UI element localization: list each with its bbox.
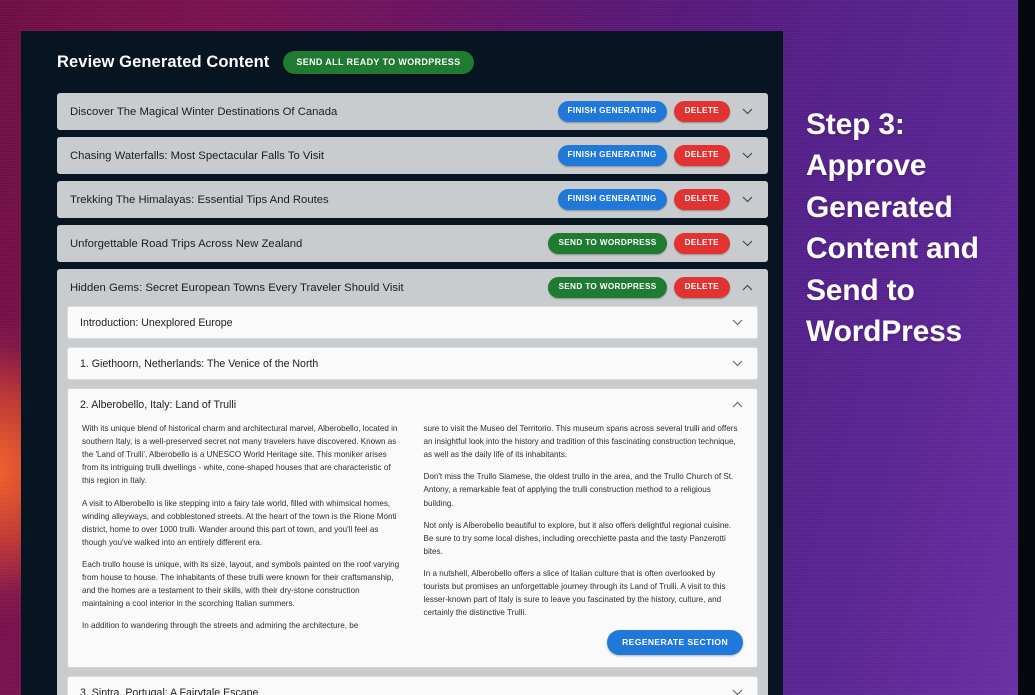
section-item[interactable]: 1. Giethoorn, Netherlands: The Venice of… (67, 347, 758, 380)
chevron-down-icon[interactable] (737, 146, 757, 166)
delete-button[interactable]: DELETE (674, 277, 730, 297)
chevron-down-icon[interactable] (737, 102, 757, 122)
delete-button[interactable]: DELETE (674, 145, 730, 165)
paragraph: In a nutshell, Alberobello offers a slic… (424, 567, 744, 619)
section-header[interactable]: 2. Alberobello, Italy: Land of Trulli (68, 389, 757, 420)
section-title: Introduction: Unexplored Europe (80, 317, 727, 329)
chevron-up-icon[interactable] (727, 395, 747, 415)
page-title: Review Generated Content (57, 53, 269, 72)
regenerate-row: REGENERATE SECTION (424, 628, 744, 655)
section-content: With its unique blend of historical char… (68, 420, 757, 667)
section-title: 1. Giethoorn, Netherlands: The Venice of… (80, 358, 727, 370)
section-title: 2. Alberobello, Italy: Land of Trulli (80, 399, 727, 411)
paragraph: sure to visit the Museo del Territorio. … (424, 422, 744, 461)
section-item-open[interactable]: 2. Alberobello, Italy: Land of Trulli Wi… (67, 388, 758, 668)
delete-button[interactable]: DELETE (674, 189, 730, 209)
section-title: 3. Sintra, Portugal: A Fairytale Escape (80, 687, 727, 695)
left-column: With its unique blend of historical char… (82, 422, 402, 655)
regenerate-section-button[interactable]: REGENERATE SECTION (607, 630, 743, 655)
article-header[interactable]: Chasing Waterfalls: Most Spectacular Fal… (57, 137, 768, 174)
delete-button[interactable]: DELETE (674, 233, 730, 253)
chevron-down-icon[interactable] (727, 354, 747, 374)
article-header[interactable]: Discover The Magical Winter Destinations… (57, 93, 768, 130)
section-item[interactable]: Introduction: Unexplored Europe (67, 306, 758, 339)
article-header[interactable]: Trekking The Himalayas: Essential Tips A… (57, 181, 768, 218)
article-title: Trekking The Himalayas: Essential Tips A… (70, 194, 551, 206)
article-header[interactable]: Hidden Gems: Secret European Towns Every… (57, 269, 768, 306)
article-sections: Introduction: Unexplored Europe 1. Gieth… (57, 306, 768, 695)
chevron-down-icon[interactable] (727, 683, 747, 695)
section-item[interactable]: 3. Sintra, Portugal: A Fairytale Escape (67, 676, 758, 695)
paragraph: With its unique blend of historical char… (82, 422, 402, 488)
article-title: Unforgettable Road Trips Across New Zeal… (70, 238, 541, 250)
article-row[interactable]: Discover The Magical Winter Destinations… (57, 93, 768, 130)
article-header[interactable]: Unforgettable Road Trips Across New Zeal… (57, 225, 768, 262)
paragraph: Not only is Alberobello beautiful to exp… (424, 519, 744, 558)
chevron-up-icon[interactable] (737, 278, 757, 298)
article-row-expanded[interactable]: Hidden Gems: Secret European Towns Every… (57, 269, 768, 695)
finish-generating-button[interactable]: FINISH GENERATING (558, 189, 667, 209)
section-header[interactable]: 1. Giethoorn, Netherlands: The Venice of… (68, 348, 757, 379)
delete-button[interactable]: DELETE (674, 101, 730, 121)
finish-generating-button[interactable]: FINISH GENERATING (558, 101, 667, 121)
article-title: Chasing Waterfalls: Most Spectacular Fal… (70, 150, 551, 162)
right-edge-strip (1018, 0, 1035, 695)
article-title: Discover The Magical Winter Destinations… (70, 106, 551, 118)
section-header[interactable]: Introduction: Unexplored Europe (68, 307, 757, 338)
article-row[interactable]: Trekking The Himalayas: Essential Tips A… (57, 181, 768, 218)
chevron-down-icon[interactable] (737, 234, 757, 254)
paragraph: Don't miss the Trullo Siamese, the oldes… (424, 470, 744, 509)
panel-header: Review Generated Content SEND ALL READY … (21, 31, 783, 74)
send-all-ready-to-wordpress-button[interactable]: SEND ALL READY TO WORDPRESS (283, 51, 473, 74)
send-to-wordpress-button[interactable]: SEND TO WORDPRESS (548, 277, 666, 297)
two-column-text: With its unique blend of historical char… (82, 422, 743, 655)
right-column: sure to visit the Museo del Territorio. … (424, 422, 744, 655)
app-panel: Review Generated Content SEND ALL READY … (21, 31, 783, 695)
paragraph: A visit to Alberobello is like stepping … (82, 497, 402, 549)
article-row[interactable]: Unforgettable Road Trips Across New Zeal… (57, 225, 768, 262)
article-list: Discover The Magical Winter Destinations… (57, 93, 768, 695)
paragraph: Each trullo house is unique, with its si… (82, 558, 402, 610)
section-header[interactable]: 3. Sintra, Portugal: A Fairytale Escape (68, 677, 757, 695)
chevron-down-icon[interactable] (727, 313, 747, 333)
send-to-wordpress-button[interactable]: SEND TO WORDPRESS (548, 233, 666, 253)
finish-generating-button[interactable]: FINISH GENERATING (558, 145, 667, 165)
paragraph: In addition to wandering through the str… (82, 619, 402, 632)
article-title: Hidden Gems: Secret European Towns Every… (70, 282, 541, 294)
chevron-down-icon[interactable] (737, 190, 757, 210)
step-caption: Step 3: Approve Generated Content and Se… (806, 104, 1016, 352)
article-row[interactable]: Chasing Waterfalls: Most Spectacular Fal… (57, 137, 768, 174)
